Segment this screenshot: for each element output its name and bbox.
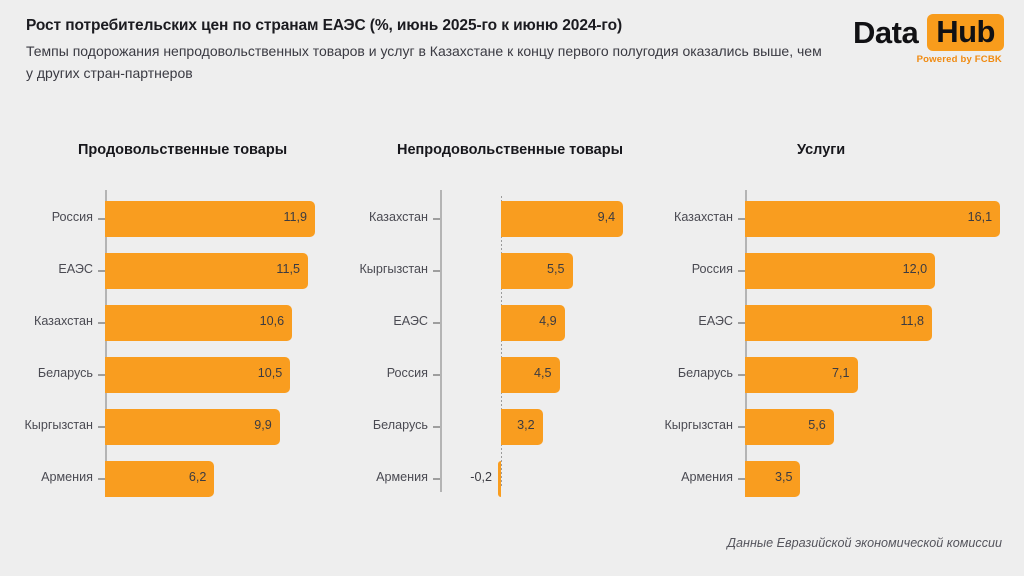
bar-value-label: 5,6 xyxy=(790,418,826,432)
bar-value-label: 7,1 xyxy=(814,366,850,380)
category-label: Казахстан xyxy=(638,210,733,224)
bar-value-label: 12,0 xyxy=(891,262,927,276)
bar-value-label: 16,1 xyxy=(956,210,992,224)
plot-area: Казахстан16,1Россия12,0ЕАЭС11,8Беларусь7… xyxy=(745,190,1024,492)
category-label: ЕАЭС xyxy=(638,314,733,328)
logo-tagline: Powered by FCBK xyxy=(842,54,1004,65)
bar-row: Россия12,0 xyxy=(745,253,1024,289)
axis-tick xyxy=(738,374,745,376)
axis-tick xyxy=(738,426,745,428)
axis-tick xyxy=(738,218,745,220)
bar-value-label: 11,8 xyxy=(888,314,924,328)
infographic-page: Рост потребительских цен по странам ЕАЭС… xyxy=(0,0,1024,576)
category-label: Беларусь xyxy=(638,366,733,380)
logo-hub-badge: Hub xyxy=(927,14,1004,51)
category-label: Армения xyxy=(638,470,733,484)
source-note: Данные Евразийской экономической комисси… xyxy=(727,536,1002,550)
page-subtitle: Темпы подорожания непродовольственных то… xyxy=(26,41,826,84)
bar-row: Казахстан16,1 xyxy=(745,201,1024,237)
chart-panel-3: УслугиКазахстан16,1Россия12,0ЕАЭС11,8Бел… xyxy=(0,136,1024,506)
axis-tick xyxy=(738,270,745,272)
bar-row: Беларусь7,1 xyxy=(745,357,1024,393)
panel-title: Услуги xyxy=(797,142,845,158)
bar-row: ЕАЭС11,8 xyxy=(745,305,1024,341)
page-title: Рост потребительских цен по странам ЕАЭС… xyxy=(26,16,846,35)
header: Рост потребительских цен по странам ЕАЭС… xyxy=(26,16,846,85)
axis-tick xyxy=(738,322,745,324)
logo-data-text: Data xyxy=(853,17,918,48)
category-label: Россия xyxy=(638,262,733,276)
axis-tick xyxy=(738,478,745,480)
datahub-logo: Data Hub Powered by FCBK xyxy=(842,14,1004,65)
bar-value-label: 3,5 xyxy=(756,470,792,484)
bar-row: Кыргызстан5,6 xyxy=(745,409,1024,445)
category-label: Кыргызстан xyxy=(638,418,733,432)
chart-panels: Продовольственные товарыРоссия11,9ЕАЭС11… xyxy=(0,136,1024,506)
logo-wordmark: Data Hub xyxy=(842,14,1004,51)
bar-row: Армения3,5 xyxy=(745,461,1024,497)
